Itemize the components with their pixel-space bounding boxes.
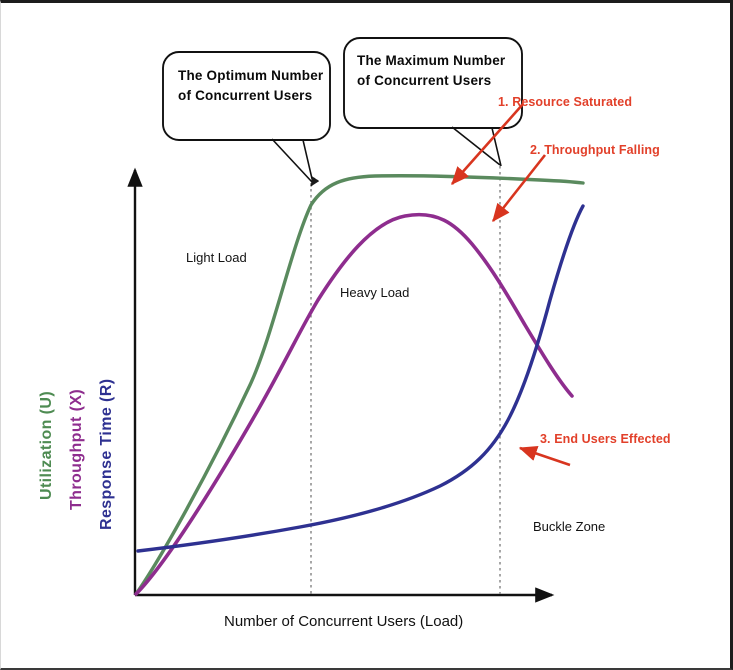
callout-optimum-line2: of Concurrent Users — [178, 86, 328, 106]
callout-optimum-line1: The Optimum Number — [178, 66, 328, 86]
zone-label-light-load: Light Load — [186, 250, 247, 265]
annotation-throughput-falling: 2. Throughput Falling — [530, 143, 660, 157]
callout-maximum-label: The Maximum Number of Concurrent Users — [357, 51, 517, 91]
annotation-end-users-effected: 3. End Users Effected — [540, 432, 671, 446]
x-axis-label: Number of Concurrent Users (Load) — [224, 613, 463, 630]
y-axis-label-response-time: Response Time (R) — [98, 379, 116, 530]
callout-maximum-line1: The Maximum Number — [357, 51, 517, 71]
y-axis-label-utilization: Utilization (U) — [38, 391, 56, 500]
curve-throughput — [136, 215, 572, 594]
arrow-end-users-effected — [520, 448, 570, 465]
callout-maximum-line2: of Concurrent Users — [357, 71, 517, 91]
zone-label-heavy-load: Heavy Load — [340, 285, 409, 300]
curve-utilization — [136, 176, 583, 594]
callout-optimum-label: The Optimum Number of Concurrent Users — [178, 66, 328, 106]
zone-label-buckle-zone: Buckle Zone — [533, 519, 605, 534]
annotation-resource-saturated: 1. Resource Saturated — [498, 95, 632, 109]
y-axis-label-throughput: Throughput (X) — [68, 389, 86, 510]
